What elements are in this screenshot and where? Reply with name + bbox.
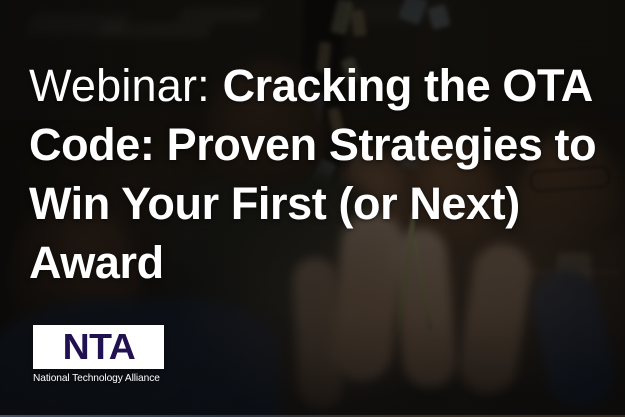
banner-content: Webinar: Cracking the OTA Code: Proven S… <box>0 0 625 417</box>
page-title: Webinar: Cracking the OTA Code: Proven S… <box>29 56 609 292</box>
nta-logo-mark: NTA <box>33 325 164 369</box>
nta-logo-tagline: National Technology Alliance <box>33 372 160 385</box>
webinar-promo-banner: Webinar: Cracking the OTA Code: Proven S… <box>0 0 625 417</box>
nta-logo: NTA National Technology Alliance <box>33 325 164 385</box>
nta-logo-letters: NTA <box>62 329 135 365</box>
headline-lede: Webinar: <box>29 60 223 111</box>
